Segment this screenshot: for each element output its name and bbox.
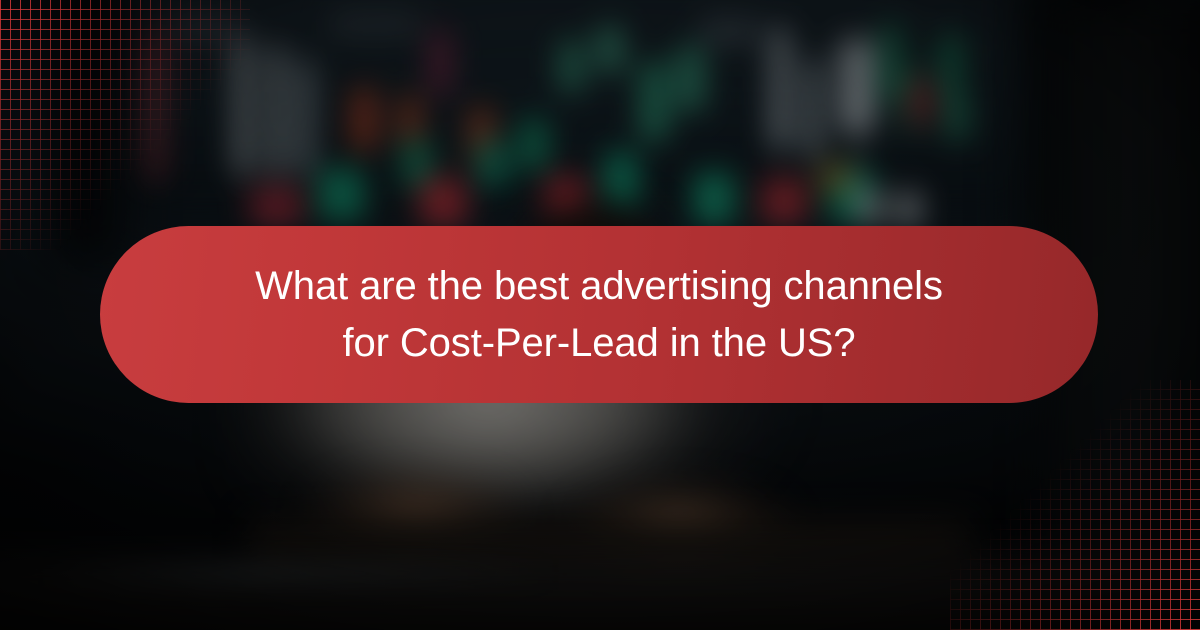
social-card: What are the best advertising channels f… xyxy=(0,0,1200,630)
dot-grid-bottom-right-icon xyxy=(950,380,1200,630)
dot-grid-top-left-icon xyxy=(0,0,250,250)
headline-banner: What are the best advertising channels f… xyxy=(100,226,1098,403)
headline-text: What are the best advertising channels f… xyxy=(185,258,1013,372)
